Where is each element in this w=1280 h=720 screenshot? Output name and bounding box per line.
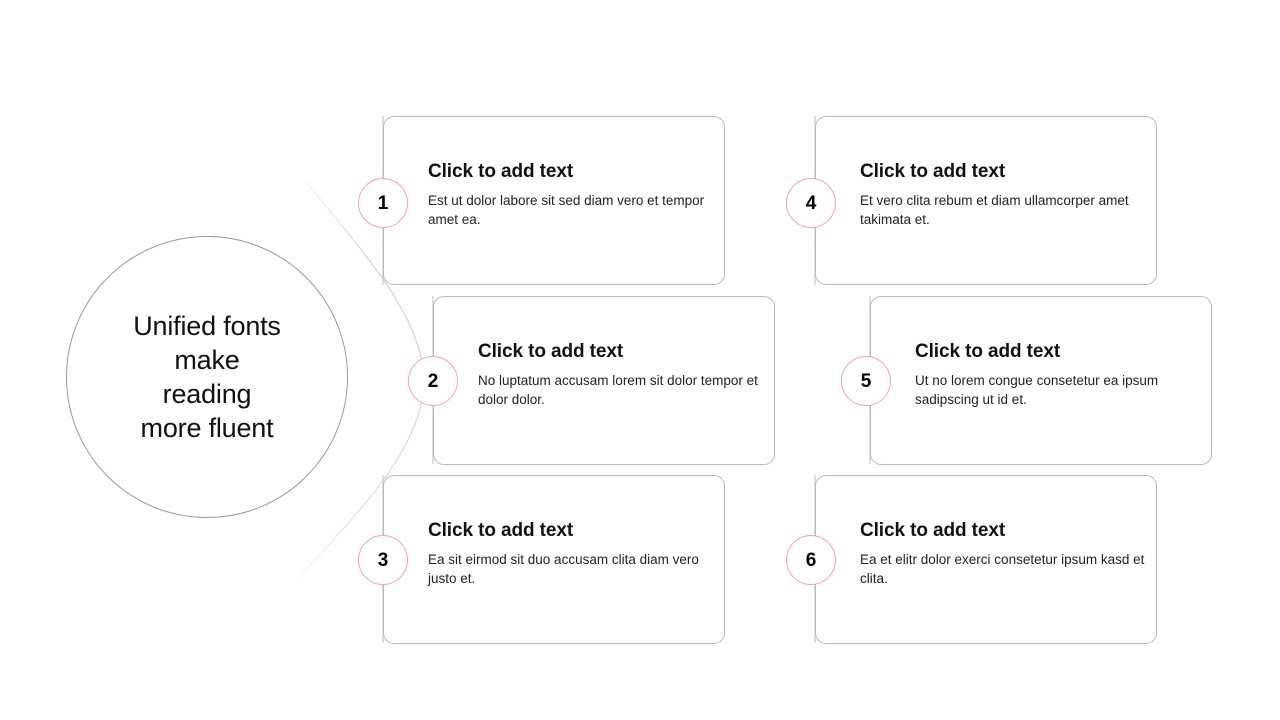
card-5[interactable]: Click to add text Ut no lorem congue con… <box>870 296 1212 465</box>
slide-canvas: Unified fonts make reading more fluent C… <box>0 0 1280 720</box>
card-3[interactable]: Click to add text Ea sit eirmod sit duo … <box>383 475 725 644</box>
card-1-title: Click to add text <box>428 161 724 183</box>
badge-4[interactable]: 4 <box>786 178 836 228</box>
card-2-title: Click to add text <box>478 341 774 363</box>
card-3-body: Ea sit eirmod sit duo accusam clita diam… <box>428 550 716 588</box>
card-4-title: Click to add text <box>860 161 1156 183</box>
badge-2[interactable]: 2 <box>408 356 458 406</box>
badge-2-number: 2 <box>428 372 439 391</box>
card-6-title: Click to add text <box>860 520 1156 542</box>
card-6-body: Ea et elitr dolor exerci consetetur ipsu… <box>860 550 1148 588</box>
badge-3[interactable]: 3 <box>358 535 408 585</box>
card-1-body: Est ut dolor labore sit sed diam vero et… <box>428 191 716 229</box>
card-6[interactable]: Click to add text Ea et elitr dolor exer… <box>815 475 1157 644</box>
badge-1-number: 1 <box>378 194 389 213</box>
badge-5[interactable]: 5 <box>841 356 891 406</box>
badge-1[interactable]: 1 <box>358 178 408 228</box>
card-1[interactable]: Click to add text Est ut dolor labore si… <box>383 116 725 285</box>
card-5-title: Click to add text <box>915 341 1211 363</box>
card-4[interactable]: Click to add text Et vero clita rebum et… <box>815 116 1157 285</box>
badge-6[interactable]: 6 <box>786 535 836 585</box>
hub-text: Unified fonts make reading more fluent <box>133 309 280 445</box>
card-3-title: Click to add text <box>428 520 724 542</box>
card-2[interactable]: Click to add text No luptatum accusam lo… <box>433 296 775 465</box>
card-4-body: Et vero clita rebum et diam ullamcorper … <box>860 191 1148 229</box>
badge-5-number: 5 <box>861 372 872 391</box>
badge-6-number: 6 <box>806 551 817 570</box>
badge-3-number: 3 <box>378 551 389 570</box>
badge-4-number: 4 <box>806 194 817 213</box>
hub-circle: Unified fonts make reading more fluent <box>66 236 348 518</box>
card-5-body: Ut no lorem congue consetetur ea ipsum s… <box>915 371 1203 409</box>
card-2-body: No luptatum accusam lorem sit dolor temp… <box>478 371 766 409</box>
